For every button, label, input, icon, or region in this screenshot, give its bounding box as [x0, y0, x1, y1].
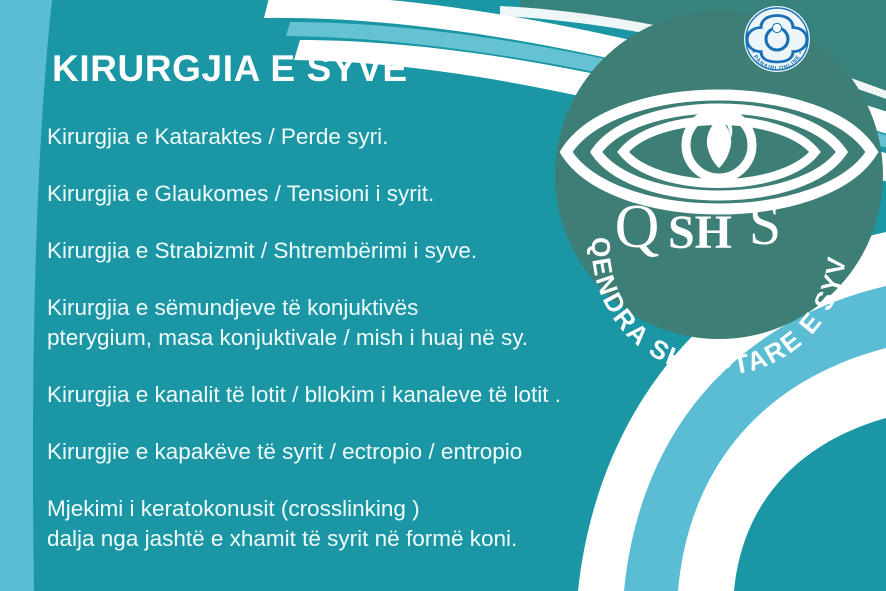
service-line-primary: Kirurgjie e kapakëve të syrit / ectropio… [47, 439, 522, 464]
list-item: Kirurgjie e kapakëve të syrit / ectropio… [47, 437, 737, 467]
service-list: Kirurgjia e Kataraktes / Perde syri. Kir… [47, 122, 737, 581]
service-line-primary: Kirurgjia e sëmundjeve të konjuktivës [47, 295, 418, 320]
service-line-secondary: pterygium, masa konjuktivale / mish i hu… [47, 323, 737, 353]
poster-content: KIRURGJIA E SYVE Kirurgjia e Kataraktes … [0, 0, 886, 591]
page-title: KIRURGJIA E SYVE [52, 48, 408, 90]
service-line-primary: Kirurgjia e Kataraktes / Perde syri. [47, 124, 388, 149]
service-line-primary: Kirurgjia e kanalit të lotit / bllokim i… [47, 382, 561, 407]
list-item: Mjekimi i keratokonusit (crosslinking ) … [47, 494, 737, 554]
service-line-primary: Kirurgjia e Strabizmit / Shtrembërimi i … [47, 238, 477, 263]
list-item: Kirurgjia e Strabizmit / Shtrembërimi i … [47, 236, 737, 266]
list-item: Kirurgjia e Kataraktes / Perde syri. [47, 122, 737, 152]
service-line-primary: Mjekimi i keratokonusit (crosslinking ) [47, 496, 420, 521]
list-item: Kirurgjia e Glaukomes / Tensioni i syrit… [47, 179, 737, 209]
service-line-secondary: dalja nga jashtë e xhamit të syrit në fo… [47, 524, 737, 554]
poster-canvas: Q SH S QENDRA SHQIPTARE E SYVE • PANAIRI… [0, 0, 886, 591]
list-item: Kirurgjia e sëmundjeve të konjuktivës pt… [47, 293, 737, 353]
service-line-primary: Kirurgjia e Glaukomes / Tensioni i syrit… [47, 181, 434, 206]
list-item: Kirurgjia e kanalit të lotit / bllokim i… [47, 380, 737, 410]
